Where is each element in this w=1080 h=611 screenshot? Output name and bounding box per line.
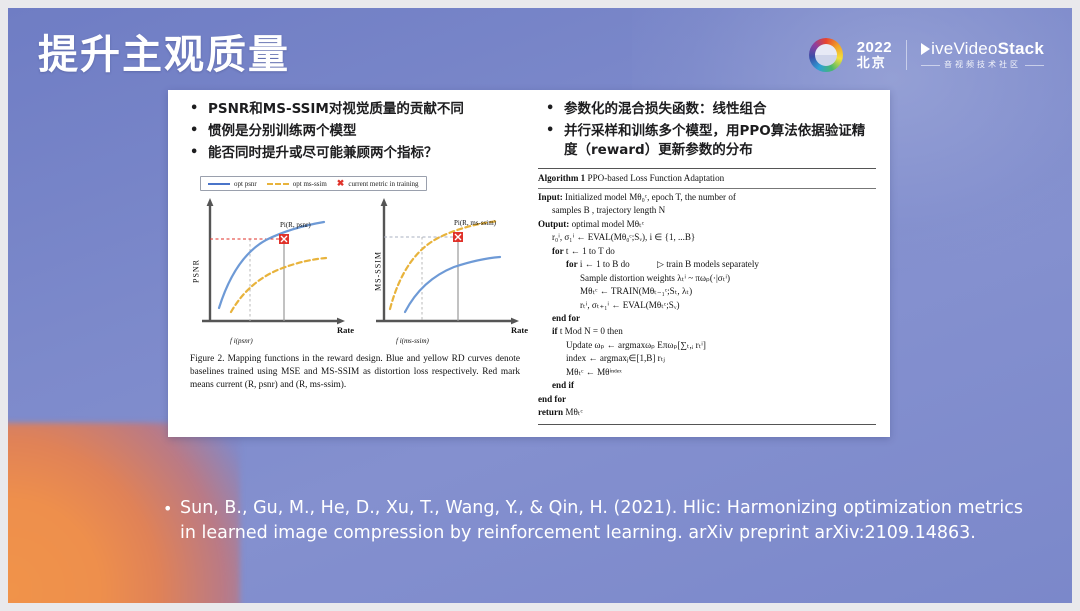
- algorithm-line: if t Mod N = 0 then: [538, 325, 876, 338]
- algorithm-line: return Mθₜᶜ: [538, 406, 876, 419]
- algorithm-title-rest: PPO-based Loss Function Adaptation: [585, 173, 724, 183]
- algorithm-line-text: Initialized model Mθ₀ᶜ, epoch T, the num…: [563, 192, 736, 202]
- algorithm-line: index ← argmaxⱼ∈[1,B] rₜⱼ: [538, 352, 876, 365]
- algorithm-line-text: t ← 1 to T do: [564, 246, 615, 256]
- chart-msssim-annotation: Pi(R, ms-ssim): [454, 219, 496, 227]
- algorithm-keyword: end if: [552, 380, 574, 390]
- algorithm-line: for t ← 1 to T do: [538, 245, 876, 258]
- algorithm-box: Algorithm 1 PPO-based Loss Function Adap…: [538, 168, 876, 424]
- algorithm-title-bold: Algorithm 1: [538, 173, 585, 183]
- algorithm-line: end if: [538, 379, 876, 392]
- algorithm-keyword: end for: [538, 394, 566, 404]
- brand-bar: 2022 北京 iveVideoStack 音视频技术社区: [809, 38, 1044, 72]
- algorithm-line: r₀ⁱ, σ₁ⁱ ← EVAL(Mθ₀ᶜ;Sᵥ), i ∈ {1, ...B}: [538, 231, 876, 244]
- brand-tagline: 音视频技术社区: [921, 61, 1044, 70]
- chart-psnr-annotation: Pi(R, psnr): [280, 221, 311, 229]
- play-triangle-icon: [921, 43, 930, 55]
- algorithm-line-text: i ← 1 to B do ▷ train B models separatel…: [578, 259, 759, 269]
- logo-core-icon: [818, 49, 834, 61]
- card-left-column: PSNR和MS-SSIM对视觉质量的贡献不同 惯例是分别训练两个模型 能否同时提…: [168, 90, 530, 437]
- algorithm-line: Input: Initialized model Mθ₀ᶜ, epoch T, …: [538, 191, 876, 204]
- brand-divider: [906, 40, 907, 70]
- algorithm-keyword: for: [552, 246, 564, 256]
- algorithm-line-text: Mθₜᶜ ← Mθⁱⁿᵈᵉˣ: [566, 367, 622, 377]
- brand-name-mid2: Video: [953, 39, 997, 58]
- page-title: 提升主观质量: [38, 32, 290, 78]
- conference-year: 2022: [857, 40, 892, 56]
- chart-pair: PSNR Rate f i(psnr) Pi(R, psnr): [188, 195, 524, 347]
- algorithm-line-text: rₜⁱ, σₜ₊₁ⁱ ← EVAL(Mθₜᶜ;Sᵥ): [580, 300, 680, 310]
- chart-msssim-y-label: MS-SSIM: [373, 252, 382, 292]
- list-item: 并行采样和训练多个模型，用PPO算法依据验证精度（reward）更新参数的分布: [538, 122, 876, 160]
- livevideostack-wordmark: iveVideoStack: [921, 40, 1044, 59]
- chart-legend: opt psnr opt ms-ssim ✖ current metric in…: [200, 176, 427, 191]
- conference-ring-logo-icon: [809, 38, 843, 72]
- citation-block: • Sun, B., Gu, M., He, D., Xu, T., Wang,…: [158, 496, 1038, 547]
- figure-caption: Figure 2. Mapping functions in the rewar…: [190, 353, 520, 391]
- chart-msssim-tick-label: f i(ms-ssim): [396, 337, 429, 345]
- algorithm-line-text: r₀ⁱ, σ₁ⁱ ← EVAL(Mθ₀ᶜ;Sᵥ), i ∈ {1, ...B}: [552, 232, 695, 242]
- conference-year-city: 2022 北京: [857, 40, 892, 69]
- right-bullet-list: 参数化的混合损失函数：线性组合 并行采样和训练多个模型，用PPO算法依据验证精度…: [538, 100, 876, 160]
- list-item: PSNR和MS-SSIM对视觉质量的贡献不同: [182, 100, 524, 119]
- red-x-marker-icon: ✖: [337, 179, 345, 188]
- algorithm-line: for i ← 1 to B do ▷ train B models separ…: [538, 258, 876, 271]
- card-right-column: 参数化的混合损失函数：线性组合 并行采样和训练多个模型，用PPO算法依据验证精度…: [530, 90, 890, 437]
- algorithm-title: Algorithm 1 PPO-based Loss Function Adap…: [538, 172, 876, 188]
- chart-psnr-y-label: PSNR: [192, 259, 201, 283]
- algorithm-line-text: Mθₜᶜ ← TRAIN(Mθₜ₋₁ᶜ;Sₜ, λₜ): [580, 286, 692, 296]
- algorithm-line-text: optimal model Mθₜᶜ: [569, 219, 644, 229]
- list-item: 能否同时提升或尽可能兼顾两个指标？: [182, 144, 524, 163]
- chart-psnr: PSNR Rate f i(psnr) Pi(R, psnr): [188, 195, 356, 347]
- legend-label: opt psnr: [234, 180, 257, 188]
- legend-dashed-line-icon: [267, 183, 289, 185]
- algorithm-line: Mθₜᶜ ← Mθⁱⁿᵈᵉˣ: [538, 366, 876, 379]
- algorithm-keyword: end for: [552, 313, 580, 323]
- algorithm-keyword: for: [566, 259, 578, 269]
- chart-psnr-svg: [188, 195, 356, 347]
- legend-label: current metric in training: [348, 180, 418, 188]
- chart-psnr-x-label: Rate: [337, 325, 354, 335]
- algorithm-line: rₜⁱ, σₜ₊₁ⁱ ← EVAL(Mθₜᶜ;Sᵥ): [538, 299, 876, 312]
- algorithm-line: end for: [538, 312, 876, 325]
- algorithm-line: Update ωₚ ← argmaxωₚ Eπωₚ[∑ₜ,ᵢ rₜⁱ]: [538, 339, 876, 352]
- algorithm-line: samples B , trajectory length N: [538, 204, 876, 217]
- algorithm-line-text: index ← argmaxⱼ∈[1,B] rₜⱼ: [566, 353, 665, 363]
- legend-entry-current-metric: ✖ current metric in training: [337, 179, 419, 188]
- left-bullet-list: PSNR和MS-SSIM对视觉质量的贡献不同 惯例是分别训练两个模型 能否同时提…: [182, 100, 524, 163]
- brand-name-mid: ive: [931, 39, 953, 58]
- content-card: PSNR和MS-SSIM对视觉质量的贡献不同 惯例是分别训练两个模型 能否同时提…: [168, 90, 890, 437]
- legend-label: opt ms-ssim: [293, 180, 327, 188]
- list-item: 参数化的混合损失函数：线性组合: [538, 100, 876, 119]
- algorithm-line: Output: optimal model Mθₜᶜ: [538, 218, 876, 231]
- algorithm-line-text: samples B , trajectory length N: [552, 205, 665, 215]
- legend-entry-opt-msssim: opt ms-ssim: [267, 180, 327, 188]
- algorithm-line-text: Mθₜᶜ: [563, 407, 583, 417]
- algorithm-line-text: Update ωₚ ← argmaxωₚ Eπωₚ[∑ₜ,ᵢ rₜⁱ]: [566, 340, 706, 350]
- chart-msssim: MS-SSIM Rate f i(ms-ssim) Pi(R, ms-ssim): [362, 195, 530, 347]
- legend-entry-opt-psnr: opt psnr: [208, 180, 257, 188]
- citation-bullet-icon: •: [163, 497, 172, 520]
- algorithm-lines: Input: Initialized model Mθ₀ᶜ, epoch T, …: [538, 191, 876, 420]
- algorithm-keyword: return: [538, 407, 563, 417]
- legend-solid-line-icon: [208, 183, 230, 185]
- algorithm-line: Sample distortion weights λₜⁱ ~ πωₚ(·|σₜ…: [538, 272, 876, 285]
- list-item: 惯例是分别训练两个模型: [182, 122, 524, 141]
- chart-msssim-x-label: Rate: [511, 325, 528, 335]
- slide-canvas: 提升主观质量 2022 北京 iveVideoStack 音视频技术社区 PSN…: [8, 8, 1072, 603]
- algorithm-keyword: Input:: [538, 192, 563, 202]
- chart-msssim-svg: [362, 195, 530, 347]
- algorithm-line-text: Sample distortion weights λₜⁱ ~ πωₚ(·|σₜ…: [580, 273, 730, 283]
- algorithm-keyword: Output:: [538, 219, 569, 229]
- livevideostack-logo: iveVideoStack 音视频技术社区: [921, 40, 1044, 69]
- citation-text: Sun, B., Gu, M., He, D., Xu, T., Wang, Y…: [158, 496, 1038, 547]
- algorithm-line: end for: [538, 393, 876, 406]
- chart-psnr-tick-label: f i(psnr): [230, 337, 253, 345]
- algorithm-line-text: t Mod N = 0 then: [558, 326, 623, 336]
- algorithm-line: Mθₜᶜ ← TRAIN(Mθₜ₋₁ᶜ;Sₜ, λₜ): [538, 285, 876, 298]
- brand-name-bold: Stack: [998, 39, 1044, 58]
- conference-city: 北京: [857, 56, 892, 70]
